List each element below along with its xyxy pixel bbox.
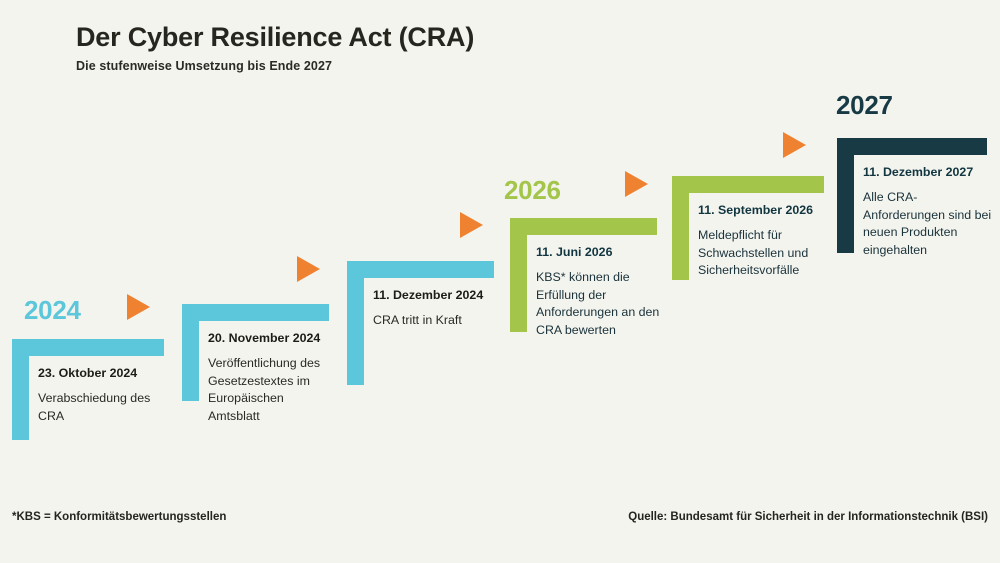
milestone-block-5: 11. September 2026 Meldepflicht für Schw… — [672, 176, 824, 280]
milestone-block-3: 11. Dezember 2024 CRA tritt in Kraft — [347, 261, 494, 385]
milestone-block-1: 23. Oktober 2024 Verabschiedung des CRA — [12, 339, 164, 440]
milestone-block-4: 11. Juni 2026 KBS* können die Erfüllung … — [510, 218, 657, 332]
milestone-content-2: 20. November 2024 Veröffentlichung des G… — [208, 330, 338, 426]
milestone-description-2: Veröffentlichung des Gesetzestextes im E… — [208, 355, 338, 425]
milestone-content-1: 23. Oktober 2024 Verabschiedung des CRA — [38, 365, 164, 425]
milestone-date-6: 11. Dezember 2027 — [863, 164, 996, 180]
milestone-description-3: CRA tritt in Kraft — [373, 312, 508, 330]
page-subtitle: Die stufenweise Umsetzung bis Ende 2027 — [76, 59, 696, 73]
arrow-right-icon-5 — [783, 132, 806, 158]
arrow-right-icon-2 — [297, 256, 320, 282]
year-label-2024: 2024 — [24, 295, 81, 326]
bracket-top-1 — [12, 339, 164, 356]
page-title: Der Cyber Resilience Act (CRA) — [76, 22, 696, 53]
milestone-block-2: 20. November 2024 Veröffentlichung des G… — [182, 304, 329, 401]
milestone-content-4: 11. Juni 2026 KBS* können die Erfüllung … — [536, 244, 668, 340]
milestone-description-6: Alle CRA-Anforderungen sind bei neuen Pr… — [863, 189, 996, 259]
milestone-date-1: 23. Oktober 2024 — [38, 365, 164, 381]
bracket-left-3 — [347, 261, 364, 385]
bracket-top-3 — [347, 261, 494, 278]
bracket-top-5 — [672, 176, 824, 193]
infographic-canvas: Der Cyber Resilience Act (CRA) Die stufe… — [0, 0, 1000, 563]
bracket-left-6 — [837, 138, 854, 253]
bracket-left-2 — [182, 304, 199, 401]
bracket-top-2 — [182, 304, 329, 321]
bracket-left-1 — [12, 339, 29, 440]
milestone-date-4: 11. Juni 2026 — [536, 244, 668, 260]
milestone-content-6: 11. Dezember 2027 Alle CRA-Anforderungen… — [863, 164, 996, 260]
bracket-left-4 — [510, 218, 527, 332]
footnote-kbs: *KBS = Konformitätsbewertungsstellen — [12, 511, 226, 523]
milestone-content-3: 11. Dezember 2024 CRA tritt in Kraft — [373, 287, 508, 330]
header: Der Cyber Resilience Act (CRA) Die stufe… — [76, 22, 696, 73]
arrow-right-icon-1 — [127, 294, 150, 320]
milestone-content-5: 11. September 2026 Meldepflicht für Schw… — [698, 202, 841, 280]
bracket-left-5 — [672, 176, 689, 280]
milestone-block-6: 11. Dezember 2027 Alle CRA-Anforderungen… — [837, 138, 987, 253]
source-attribution: Quelle: Bundesamt für Sicherheit in der … — [628, 511, 988, 523]
milestone-date-2: 20. November 2024 — [208, 330, 338, 346]
arrow-right-icon-4 — [625, 171, 648, 197]
year-label-2026: 2026 — [504, 175, 561, 206]
year-label-2027: 2027 — [836, 90, 893, 121]
milestone-description-4: KBS* können die Erfüllung der Anforderun… — [536, 269, 668, 339]
milestone-date-5: 11. September 2026 — [698, 202, 841, 218]
bracket-top-6 — [837, 138, 987, 155]
milestone-description-1: Verabschiedung des CRA — [38, 390, 164, 425]
arrow-right-icon-3 — [460, 212, 483, 238]
bracket-top-4 — [510, 218, 657, 235]
milestone-description-5: Meldepflicht für Schwachstellen und Sich… — [698, 227, 841, 280]
milestone-date-3: 11. Dezember 2024 — [373, 287, 508, 303]
